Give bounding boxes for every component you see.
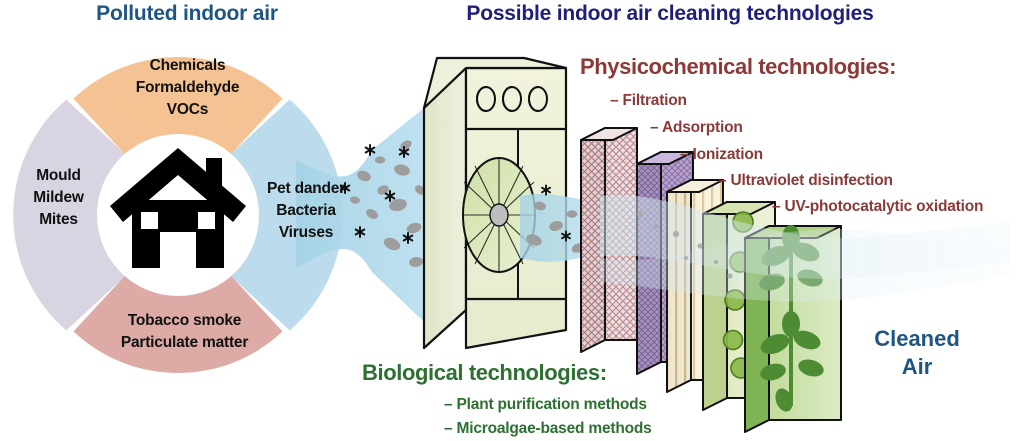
output-label-line-2: Air xyxy=(852,353,982,381)
wheel-label-chemicals-line-2: Formaldehyde xyxy=(95,77,280,99)
wheel-label-pet-dander-line-2: Bacteria xyxy=(247,200,365,222)
physicochemical-item-uv-disinfection: – Ultraviolet disinfection xyxy=(718,172,893,190)
wheel-label-chemicals-line-3: VOCs xyxy=(95,99,280,121)
biological-heading: Biological technologies: xyxy=(362,360,607,386)
output-label-cleaned-air: Cleaned Air xyxy=(852,325,982,380)
wheel-label-pet-dander-line-3: Viruses xyxy=(247,222,365,244)
wheel-label-mould-line-2: Mildew xyxy=(6,187,111,209)
wheel-label-tobacco: Tobacco smoke Particulate matter xyxy=(72,310,297,354)
physicochemical-item-adsorption: – Adsorption xyxy=(650,119,743,137)
physicochemical-item-ionization: – Ionization xyxy=(680,146,763,164)
physicochemical-item-filtration: – Filtration xyxy=(610,92,687,110)
page-title-main: Possible indoor air cleaning technologie… xyxy=(390,2,950,26)
output-label-line-1: Cleaned xyxy=(852,325,982,353)
biological-item-plant-purification: – Plant purification methods xyxy=(444,396,647,414)
wheel-label-tobacco-line-1: Tobacco smoke xyxy=(72,310,297,332)
wheel-label-pet-dander-line-1: Pet dander xyxy=(247,178,365,200)
wheel-label-chemicals: Chemicals Formaldehyde VOCs xyxy=(95,55,280,121)
wheel-label-mould: Mould Mildew Mites xyxy=(6,165,111,231)
biological-item-microalgae: – Microalgae-based methods xyxy=(444,420,652,438)
wheel-label-mould-line-3: Mites xyxy=(6,209,111,231)
wheel-label-chemicals-line-1: Chemicals xyxy=(95,55,280,77)
infographic-canvas: Polluted indoor air Possible indoor air … xyxy=(0,0,1024,441)
wheel-label-tobacco-line-2: Particulate matter xyxy=(72,332,297,354)
wheel-label-pet-dander: Pet dander Bacteria Viruses xyxy=(247,178,365,244)
physicochemical-item-uv-photocatalytic: – UV-photocatalytic oxidation xyxy=(772,198,983,216)
physicochemical-heading: Physicochemical technologies: xyxy=(580,54,896,80)
wheel-label-mould-line-1: Mould xyxy=(6,165,111,187)
page-title-polluted-air: Polluted indoor air xyxy=(62,2,312,26)
